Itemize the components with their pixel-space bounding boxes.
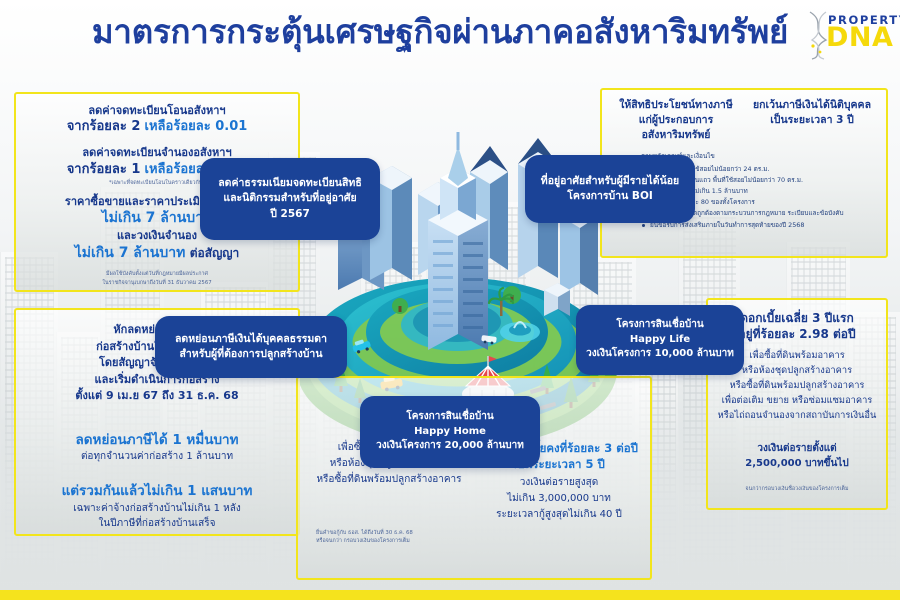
pill-happy-home: โครงการสินเชื่อบ้าน Happy Home วงเงินโคร… [360, 396, 540, 468]
tax-benefit-col2-line1: ยกเว้นภาษีเงินได้นิติบุคคล [747, 98, 877, 113]
happy-life-footnote: จนกว่ากรอบวงเงินชื่อวงเงินของโครงการเต็ม [715, 485, 879, 493]
happy-home-right-line5: ระยะเวลากู้สูงสุดไม่เกิน 40 ปี [478, 507, 640, 523]
pill-personal-tax: ลดหย่อนภาษีเงินได้บุคคลธรรมดา สำหรับผู้ท… [155, 316, 347, 378]
registration-fee-line1: ลดค่าธรรมเนียมจดทะเบียนสิทธิ [218, 176, 361, 191]
logo-dna-text: DNA [826, 24, 893, 51]
registration-fee-line3: ปี 2567 [270, 207, 310, 222]
construction-line10: ในปีภาษีที่ก่อสร้างบ้านเสร็จ [26, 516, 288, 531]
happy-life-line9: 2,500,000 บาทขึ้นไป [715, 456, 879, 471]
pill-happy-life: โครงการสินเชื่อบ้าน Happy Life วงเงินโคร… [576, 305, 744, 375]
construction-line6: ลดหย่อนภาษีได้ 1 หมื่นบาท [26, 431, 288, 450]
happy-home-footnote1: ยื่นคำขอกู้กับ ธอส. ได้ถึงวันที่ 30 ธ.ค.… [308, 529, 470, 537]
bottom-accent-bar [0, 590, 900, 600]
happy-home-footnote2: หรือจนกว่า กรอบวงเงินของโครงการเต็ม [308, 537, 470, 545]
transfer-fee-line1: ลดค่าจดทะเบียนโอนอสังหาฯ [26, 103, 288, 118]
happy-home-right-line4: ไม่เกิน 3,000,000 บาท [478, 491, 640, 507]
transfer-fee-line4-from: จากร้อยละ 1 [67, 162, 141, 177]
happy-life-title-line1: โครงการสินเชื่อบ้าน [616, 318, 703, 333]
infographic-canvas: มาตรการกระตุ้นเศรษฐกิจผ่านภาคอสังหาริมทร… [0, 0, 900, 600]
boi-housing-line2: โครงการบ้าน BOI [567, 189, 653, 204]
transfer-fee-line8: ไม่เกิน 7 ล้านบาท ต่อสัญญา [26, 244, 288, 263]
happy-life-title-line3: วงเงินโครงการ 10,000 ล้านบาท [586, 347, 734, 362]
personal-tax-line2: สำหรับผู้ที่ต้องการปลูกสร้างบ้าน [179, 347, 322, 362]
transfer-fee-line8-amount: ไม่เกิน 7 ล้านบาท [75, 245, 186, 261]
construction-line8: แต่รวมกันแล้วไม่เกิน 1 แสนบาท [26, 482, 288, 501]
pill-registration-fee: ลดค่าธรรมเนียมจดทะเบียนสิทธิ และนิติกรรม… [200, 158, 380, 240]
construction-line7: ต่อทุกจำนวนค่าก่อสร้าง 1 ล้านบาท [26, 449, 288, 464]
happy-life-title-line2: Happy Life [630, 333, 690, 348]
tax-benefit-col1-line2: แก่ผู้ประกอบการอสังหาริมทรัพย์ [611, 113, 741, 143]
construction-line5: ตั้งแต่ 9 เม.ย 67 ถึง 31 ธ.ค. 68 [26, 388, 288, 405]
happy-home-title-line1: โครงการสินเชื่อบ้าน [406, 410, 493, 425]
transfer-fee-line8-suffix: ต่อสัญญา [190, 246, 240, 260]
transfer-fee-line2-from: จากร้อยละ 2 [67, 119, 141, 134]
happy-life-line8: วงเงินต่อรายตั้งแต่ [715, 441, 879, 456]
boi-housing-line1: ที่อยู่อาศัยสำหรับผู้มีรายได้น้อย [541, 174, 679, 189]
happy-home-title-line3: วงเงินโครงการ 20,000 ล้านบาท [376, 439, 524, 454]
construction-line9: เฉพาะค่าจ้างก่อสร้างบ้านไม่เกิน 1 หลัง [26, 501, 288, 516]
pill-boi-housing: ที่อยู่อาศัยสำหรับผู้มีรายได้น้อย โครงกา… [525, 155, 695, 223]
tax-benefit-col1-line1: ให้สิทธิประโยชน์ทางภาษี [611, 98, 741, 113]
happy-life-line7: หรือไถ่ถอนจำนองจากสถาบันการเงินอื่น [715, 409, 879, 424]
brand-logo: PROPERTY DNA [806, 8, 892, 62]
transfer-fee-footnote1: มีผลใช้บังคับตั้งแต่วันที่กฎหมายมีผลประก… [26, 270, 288, 278]
page-title: มาตรการกระตุ้นเศรษฐกิจผ่านภาคอสังหาริมทร… [60, 14, 820, 51]
transfer-fee-footnote2: ในราชกิจจานุเบกษาถึงวันที่ 31 ธันวาคม 25… [26, 279, 288, 287]
registration-fee-line2: และนิติกรรมสำหรับที่อยู่อาศัย [223, 191, 356, 206]
happy-life-line6: เพื่อต่อเติม ขยาย หรือซ่อมแซมอาคาร [715, 394, 879, 409]
happy-home-right-line3: วงเงินต่อรายสูงสุด [478, 475, 640, 491]
tax-benefit-col2-line2: เป็นระยะเวลา 3 ปี [747, 113, 877, 128]
personal-tax-line1: ลดหย่อนภาษีเงินได้บุคคลธรรมดา [175, 332, 327, 347]
happy-home-title-line2: Happy Home [414, 425, 486, 440]
happy-life-line5: หรือซื้อที่ดินพร้อมปลูกสร้างอาคาร [715, 379, 879, 394]
transfer-fee-line2-to: เหลือร้อยละ 0.01 [145, 119, 248, 134]
happy-home-left-line3: หรือซื้อที่ดินพร้อมปลูกสร้างอาคาร [308, 472, 470, 488]
transfer-fee-line2: จากร้อยละ 2 เหลือร้อยละ 0.01 [26, 118, 288, 137]
